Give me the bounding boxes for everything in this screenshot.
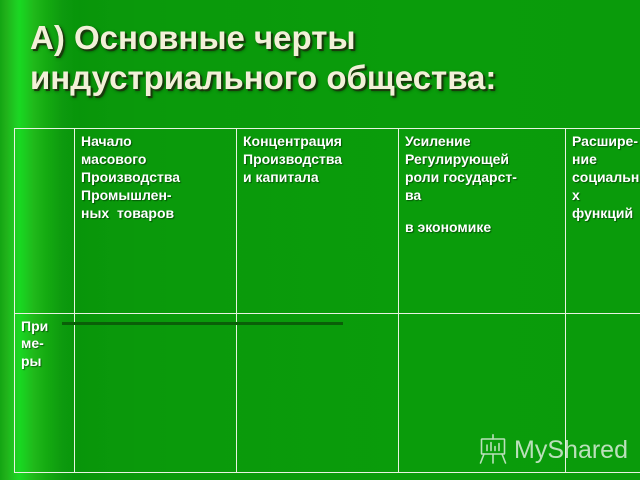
header-4-line-2: ние xyxy=(572,151,640,169)
header-3-line-3: роли государст- xyxy=(405,169,560,187)
table-header-cell-2: Концентрация Производства и капитала xyxy=(237,129,399,314)
slide-title-line-2: индустриального общества: xyxy=(30,58,620,98)
header-1-line-2: масового xyxy=(81,151,231,169)
myshared-watermark: MyShared xyxy=(478,434,628,466)
table-cell-examples-1[interactable] xyxy=(75,314,237,473)
header-3-line-1: Усиление xyxy=(405,133,560,151)
content-table: Начало масового Производства Промышлен- … xyxy=(14,128,640,473)
presentation-chart-icon xyxy=(478,434,508,466)
header-1-line-4: Промышлен- xyxy=(81,187,231,205)
header-4-line-5: функций xyxy=(572,205,640,223)
header-1-line-3: Производства xyxy=(81,169,231,187)
row-label-line-3: ры xyxy=(21,353,69,370)
header-3-line-2: Регулирующей xyxy=(405,151,560,169)
table-header-cell-corner xyxy=(15,129,75,314)
table-header-cell-3: Усиление Регулирующей роли государст- ва… xyxy=(399,129,566,314)
header-4-line-1: Расшире- xyxy=(572,133,640,151)
slide-title: А) Основные черты индустриального общест… xyxy=(30,18,620,99)
header-2-line-3: и капитала xyxy=(243,169,393,187)
slide-title-line-1: А) Основные черты xyxy=(30,18,620,58)
table-header-cell-1: Начало масового Производства Промышлен- … xyxy=(75,129,237,314)
header-3-line-5: в экономике xyxy=(405,219,560,237)
table-header-row: Начало масового Производства Промышлен- … xyxy=(15,129,640,314)
table-row-label-examples: При ме- ры xyxy=(15,314,75,473)
myshared-watermark-label: MyShared xyxy=(514,436,628,465)
header-4-line-3: социальны xyxy=(572,169,640,187)
table-header-cell-4: Расшире- ние социальны х функций xyxy=(566,129,640,314)
header-1-line-5: ных товаров xyxy=(81,205,231,223)
header-4-line-4: х xyxy=(572,187,640,205)
content-table-wrapper: Начало масового Производства Промышлен- … xyxy=(14,128,640,454)
header-3-line-4: ва xyxy=(405,187,560,205)
row-label-line-1: При xyxy=(21,318,69,335)
table-cell-examples-2[interactable] xyxy=(237,314,399,473)
header-2-line-2: Производства xyxy=(243,151,393,169)
slide-canvas: А) Основные черты индустриального общест… xyxy=(0,0,640,480)
header-1-line-1: Начало xyxy=(81,133,231,151)
row-label-line-2: ме- xyxy=(21,335,69,352)
header-2-line-1: Концентрация xyxy=(243,133,393,151)
